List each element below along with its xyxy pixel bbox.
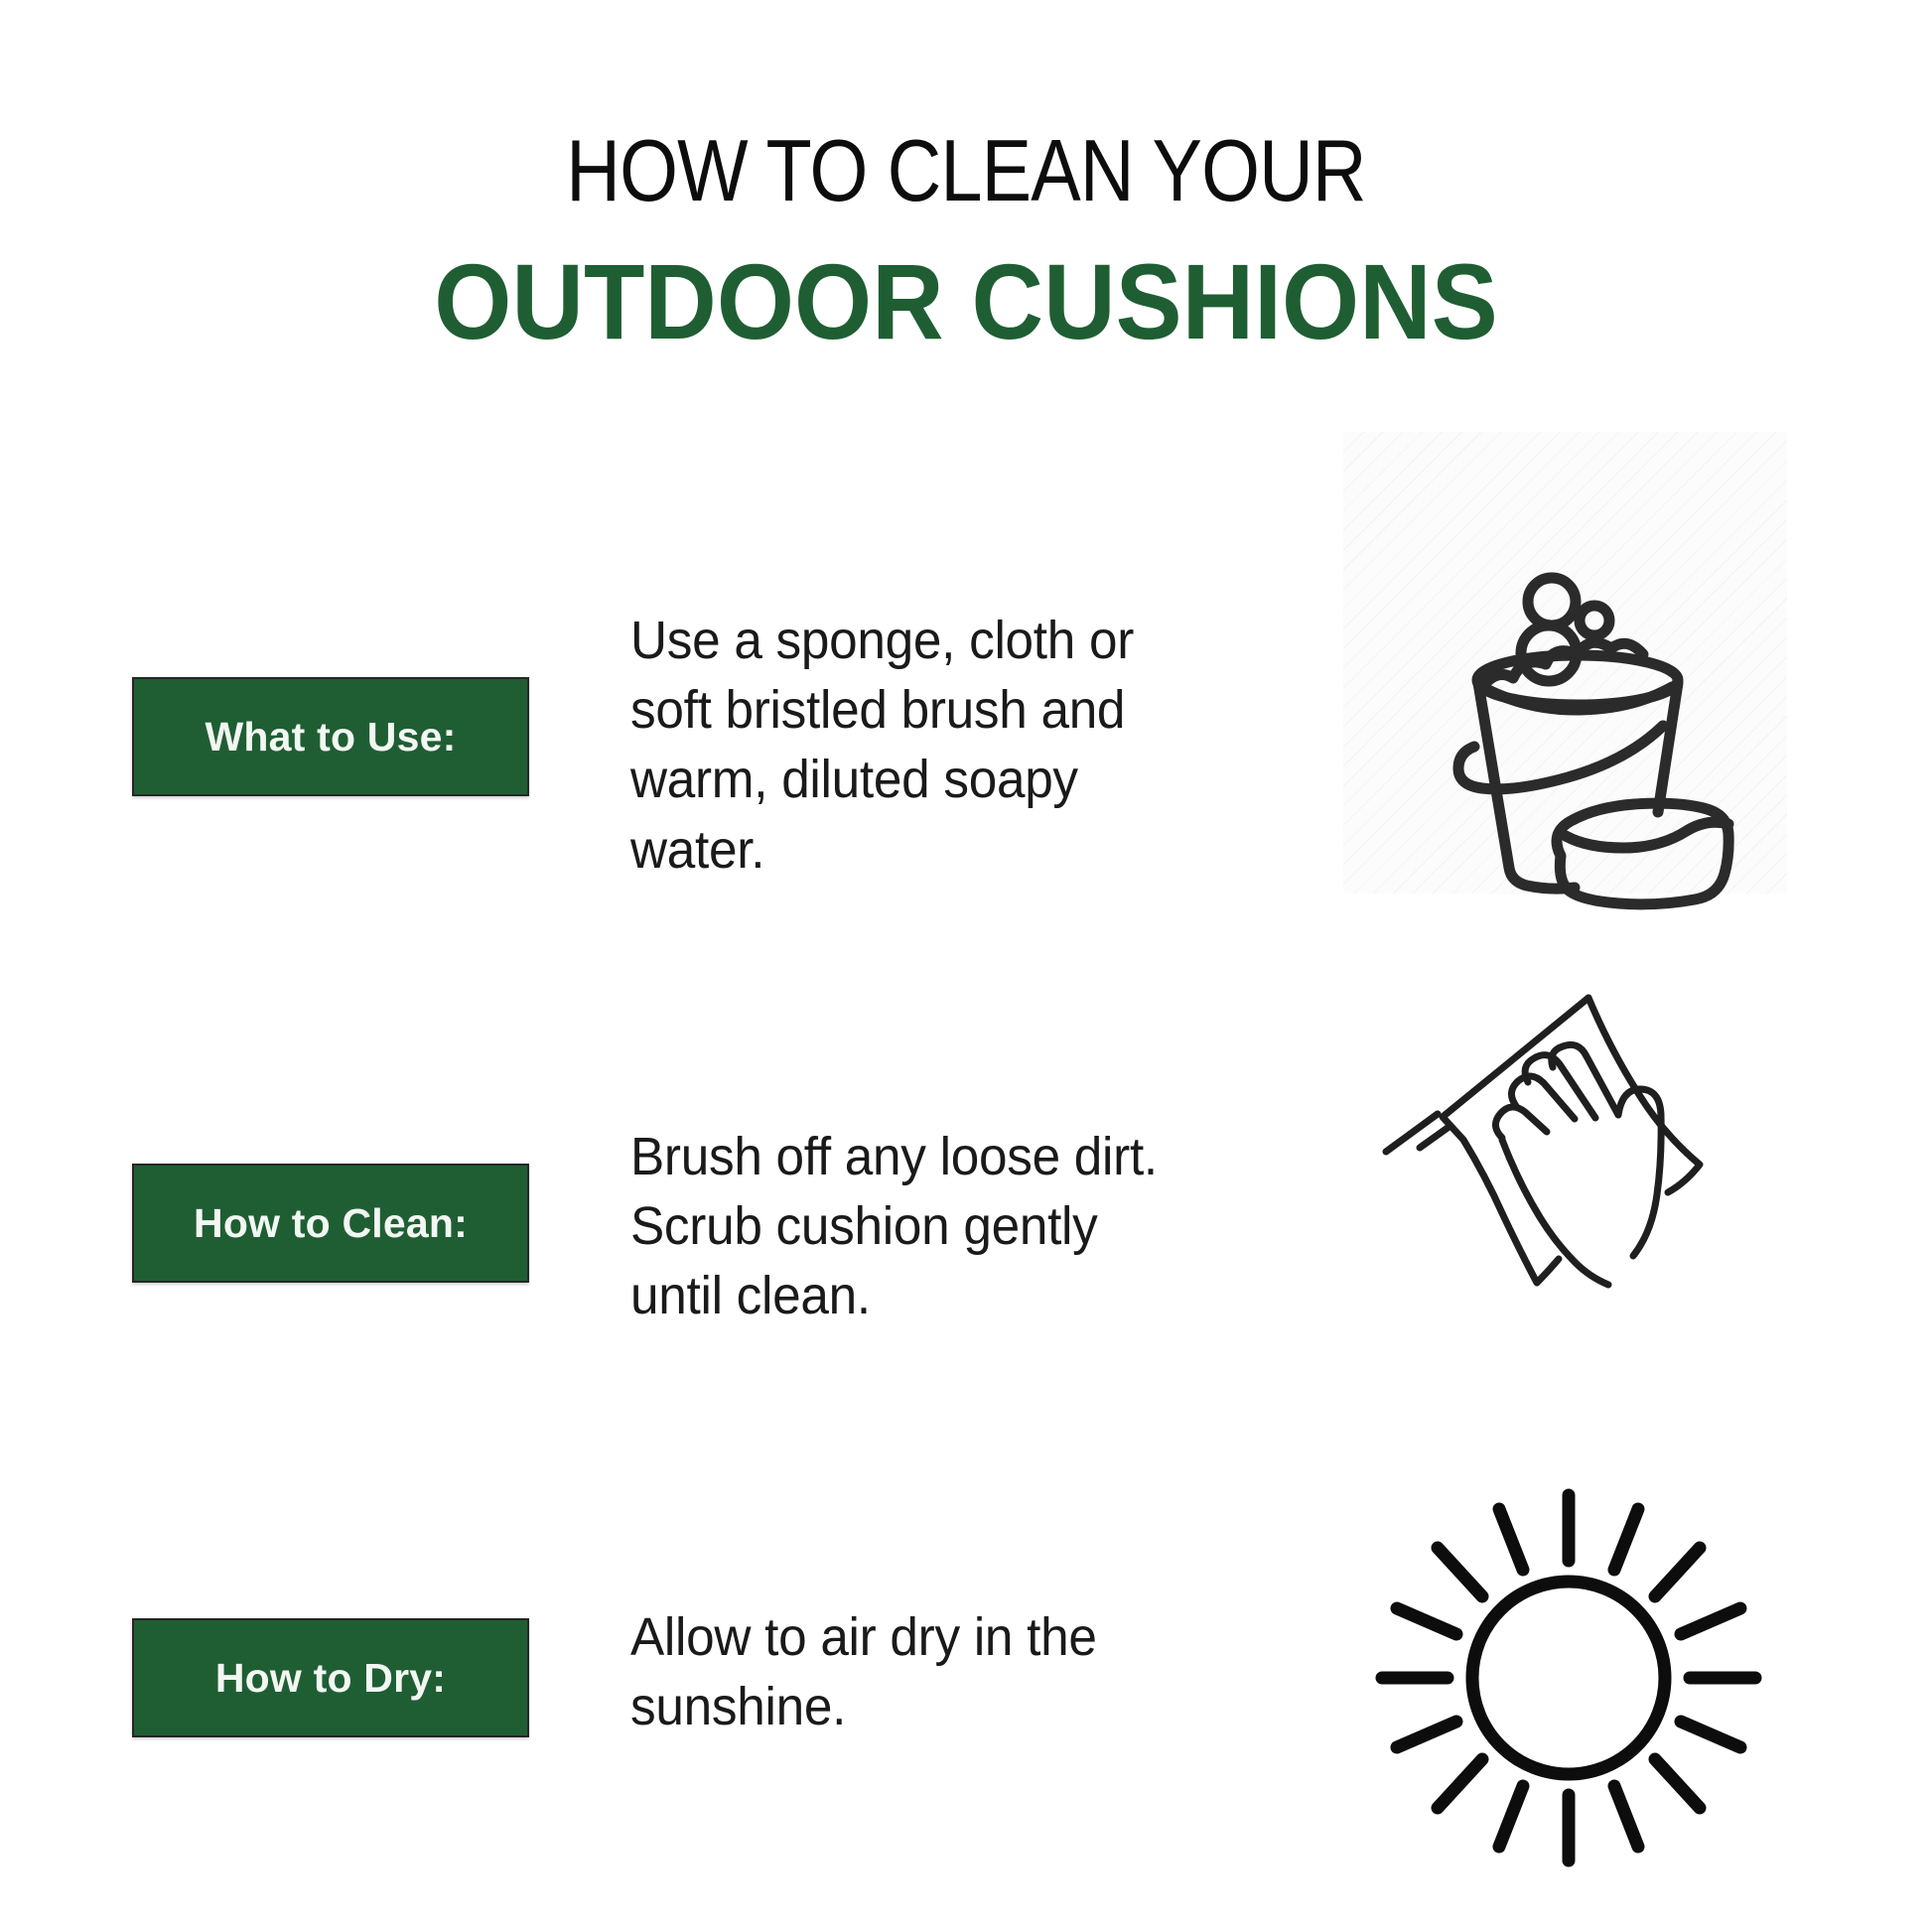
middle-finger: [1525, 1055, 1595, 1118]
sun-ray-ene: [1681, 1608, 1740, 1634]
bubble-small-icon: [1580, 606, 1609, 635]
sun-ray-se: [1655, 1759, 1700, 1808]
sun-ray-wnw: [1397, 1608, 1456, 1634]
hand-wiping-cloth-icon: [1372, 963, 1789, 1291]
step-body-line-2: soft bristled brush and: [630, 675, 1196, 745]
page-header: HOW TO CLEAN YOUR OUTDOOR CUSHIONS: [0, 0, 1932, 355]
page-title-line-1: HOW TO CLEAN YOUR: [135, 0, 1797, 214]
sun-ray-ne: [1655, 1548, 1700, 1596]
sponge-groove: [1566, 822, 1728, 848]
step-body-line-2: sunshine.: [630, 1672, 1196, 1741]
step-label-text: How to Dry:: [215, 1655, 446, 1702]
step-row-how-to-clean: How to Clean: Brush off any loose dirt. …: [0, 953, 1932, 1370]
bucket-right-wall: [1658, 683, 1678, 812]
sun-ray-ssw: [1499, 1786, 1523, 1847]
step-body-line-1: Brush off any loose dirt.: [630, 1122, 1196, 1191]
bucket-foam-base: [1482, 687, 1672, 710]
sun-ray-ese: [1681, 1722, 1740, 1747]
sun-ray-nne: [1614, 1509, 1638, 1570]
step-label-chip-how-to-clean[interactable]: How to Clean:: [132, 1164, 529, 1283]
sun-ray-sw: [1438, 1759, 1482, 1808]
step-label-chip-what-to-use[interactable]: What to Use:: [132, 677, 529, 796]
step-row-what-to-use: What to Use: Use a sponge, cloth or soft…: [0, 467, 1932, 884]
sun-ray-sse: [1614, 1786, 1638, 1847]
bucket-sponge-icon: [1384, 536, 1781, 933]
step-label-text: What to Use:: [206, 714, 457, 760]
step-body-line-1: Use a sponge, cloth or: [630, 606, 1196, 675]
step-body-line-2: Scrub cushion gently: [630, 1191, 1196, 1261]
step-body-how-to-dry: Allow to air dry in the sunshine.: [630, 1602, 1196, 1741]
step-body-how-to-clean: Brush off any loose dirt. Scrub cushion …: [630, 1122, 1196, 1331]
page-title-line-2: OUTDOOR CUSHIONS: [68, 214, 1864, 355]
sun-ray-nw: [1438, 1548, 1482, 1596]
step-row-how-to-dry: How to Dry: Allow to air dry in the suns…: [0, 1430, 1932, 1847]
sun-rays: [1382, 1495, 1755, 1861]
step-body-line-1: Allow to air dry in the: [630, 1602, 1196, 1672]
motion-line-short: [1420, 1128, 1448, 1148]
sun-disc: [1472, 1582, 1665, 1774]
bubble-large-icon: [1528, 578, 1576, 625]
sun-ray-nnw: [1499, 1509, 1523, 1570]
sun-ray-wsw: [1397, 1722, 1456, 1747]
step-label-chip-how-to-dry[interactable]: How to Dry:: [132, 1618, 529, 1737]
step-body-line-3: until clean.: [630, 1261, 1196, 1330]
step-label-text: How to Clean:: [194, 1200, 468, 1247]
step-body-line-3: warm, diluted soapy water.: [630, 745, 1196, 884]
sun-icon: [1350, 1469, 1787, 1886]
pinky-finger: [1495, 1107, 1547, 1138]
infographic-page: HOW TO CLEAN YOUR OUTDOOR CUSHIONS What …: [0, 0, 1932, 1932]
motion-line-long: [1386, 1114, 1438, 1152]
step-body-what-to-use: Use a sponge, cloth or soft bristled bru…: [630, 606, 1196, 885]
cloth-left-edge: [1443, 998, 1588, 1283]
